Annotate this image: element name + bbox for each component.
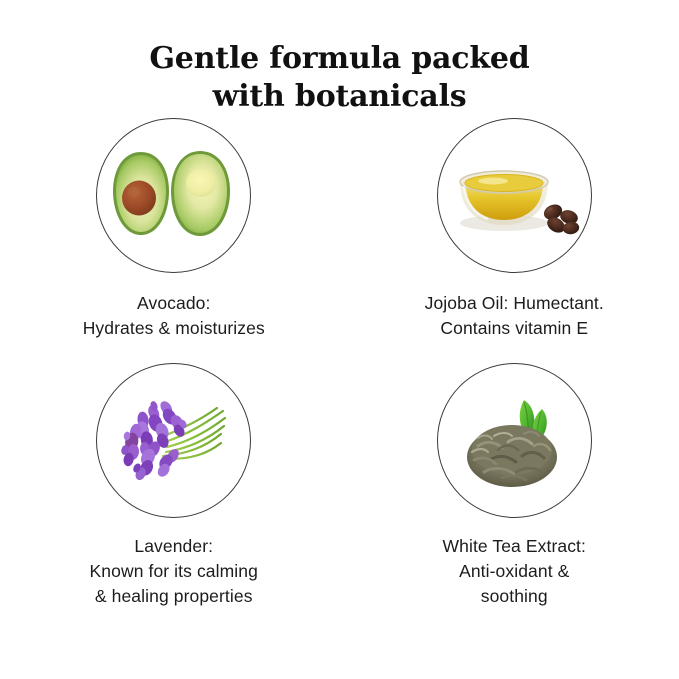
avocado-half-right-icon xyxy=(171,151,230,236)
ingredients-infographic: Gentle formula packed with botanicals xyxy=(0,0,679,679)
white-tea-leaves-icon xyxy=(438,364,591,517)
page-title-line-2: with botanicals xyxy=(0,78,679,116)
ingredient-card-lavender: Lavender: Known for its calming & healin… xyxy=(0,363,340,608)
ingredient-card-jojoba-oil: Jojoba Oil: Humectant. Contains vitamin … xyxy=(340,118,679,363)
ingredient-image-circle-avocado xyxy=(96,118,251,273)
caption-line: White Tea Extract: xyxy=(443,534,586,559)
ingredient-image-circle-lavender xyxy=(96,363,251,518)
caption-line: Contains vitamin E xyxy=(425,316,604,341)
lavender-bunch-icon xyxy=(97,364,250,517)
caption-line: Known for its calming xyxy=(90,559,258,584)
caption-line: & healing properties xyxy=(90,584,258,609)
ingredient-grid: Avocado: Hydrates & moisturizes xyxy=(0,118,679,608)
page-title: Gentle formula packed with botanicals xyxy=(0,40,679,116)
avocado-halves-icon xyxy=(97,119,250,272)
jojoba-oil-bowl-icon xyxy=(438,119,591,272)
ingredient-caption-jojoba-oil: Jojoba Oil: Humectant. Contains vitamin … xyxy=(425,291,604,341)
ingredient-card-white-tea: White Tea Extract: Anti-oxidant & soothi… xyxy=(340,363,679,608)
caption-line: Lavender: xyxy=(90,534,258,559)
caption-line: Anti-oxidant & xyxy=(443,559,586,584)
avocado-half-left-icon xyxy=(113,152,169,235)
lavender-flowers-icon xyxy=(120,398,190,483)
ingredient-image-circle-jojoba-oil xyxy=(437,118,592,273)
caption-line: Avocado: xyxy=(83,291,265,316)
page-title-line-1: Gentle formula packed xyxy=(149,41,529,76)
jojoba-seeds-icon xyxy=(541,202,580,236)
caption-line: Hydrates & moisturizes xyxy=(83,316,265,341)
ingredient-caption-lavender: Lavender: Known for its calming & healin… xyxy=(90,534,258,609)
caption-line: Jojoba Oil: Humectant. xyxy=(425,291,604,316)
ingredient-caption-white-tea: White Tea Extract: Anti-oxidant & soothi… xyxy=(443,534,586,609)
ingredient-card-avocado: Avocado: Hydrates & moisturizes xyxy=(0,118,340,363)
caption-line: soothing xyxy=(443,584,586,609)
ingredient-image-circle-white-tea xyxy=(437,363,592,518)
ingredient-caption-avocado: Avocado: Hydrates & moisturizes xyxy=(83,291,265,341)
